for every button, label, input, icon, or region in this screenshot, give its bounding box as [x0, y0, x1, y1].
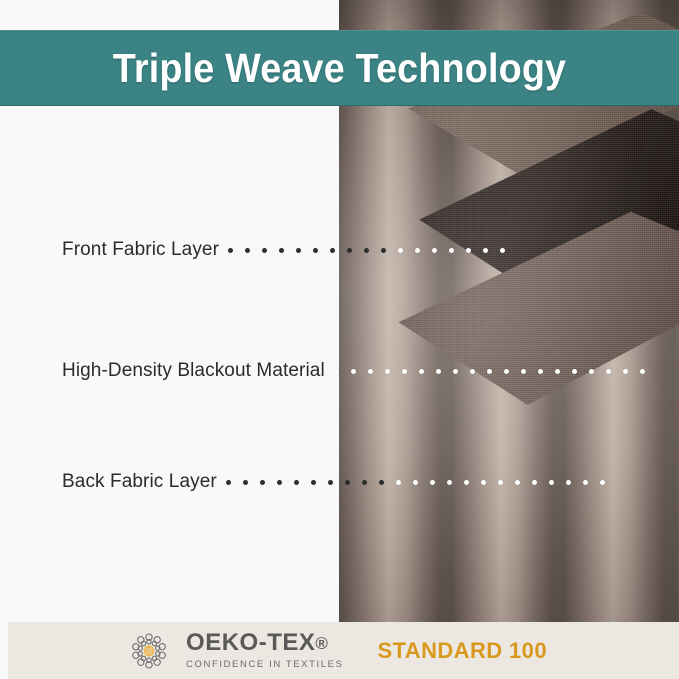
callout-back-fabric-layer: Back Fabric Layer: [62, 469, 617, 495]
certification-bar: OEKO-TEX® CONFIDENCE IN TEXTILES STANDAR…: [8, 622, 679, 679]
standard-100-label: STANDARD 100: [378, 638, 547, 664]
callout-front-fabric-layer: Front Fabric Layer: [62, 237, 517, 263]
callout-label: High-Density Blackout Material: [62, 360, 325, 382]
leader-line: [334, 358, 657, 384]
header-banner: Triple Weave Technology: [0, 30, 679, 106]
oeko-tex-flower-icon: [128, 630, 170, 672]
callout-blackout-material: High-Density Blackout Material: [62, 358, 657, 384]
oeko-tex-tagline: CONFIDENCE IN TEXTILES: [186, 659, 344, 670]
product-infographic: Triple Weave Technology Front Fabric Lay…: [0, 0, 679, 679]
leader-line: [228, 237, 517, 263]
page-title: Triple Weave Technology: [113, 45, 567, 92]
oeko-tex-name: OEKO-TEX®: [186, 631, 344, 655]
registered-symbol: ®: [315, 634, 328, 653]
callout-label: Back Fabric Layer: [62, 471, 217, 493]
certification-content: OEKO-TEX® CONFIDENCE IN TEXTILES STANDAR…: [128, 630, 547, 672]
callout-label: Front Fabric Layer: [62, 239, 219, 261]
leader-line: [226, 469, 617, 495]
oeko-tex-wordmark: OEKO-TEX® CONFIDENCE IN TEXTILES: [186, 631, 344, 670]
